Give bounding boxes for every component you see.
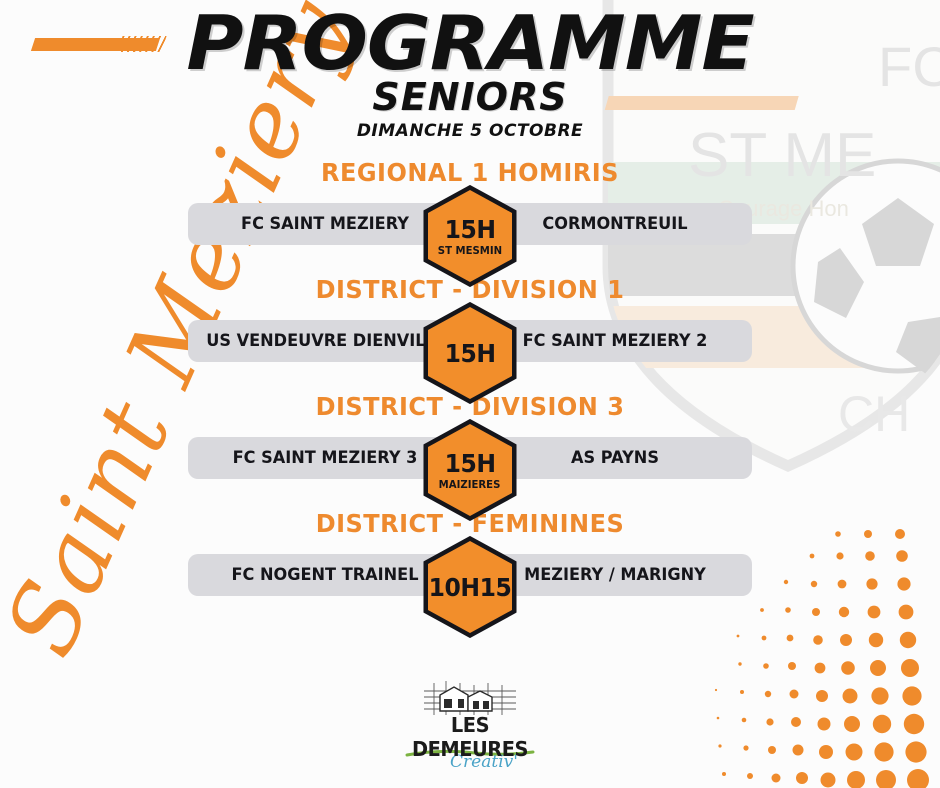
kickoff-time: 15H (445, 451, 496, 476)
fixture-row: FC NOGENT TRAINEL 10H15 MEZIERY / MARIGN… (188, 546, 752, 604)
away-team: AS PAYNS (496, 437, 734, 479)
match-block: DISTRICT - FEMININES FC NOGENT TRAINEL 1… (0, 509, 940, 604)
home-team: US VENDEUVRE DIENVILLE (206, 320, 444, 362)
page-title: PROGRAMME (0, 8, 940, 79)
fixture-row: FC SAINT MEZIERY 3 15H MAIZIERES AS PAYN… (188, 429, 752, 487)
home-team: FC SAINT MEZIERY 3 (206, 437, 444, 479)
kickoff-time: 15H (445, 217, 496, 242)
programme-poster: FC ST ME Courage Hon CH (0, 0, 940, 788)
sponsor-name: LES DEMEURES (394, 713, 545, 761)
away-team: MEZIERY / MARIGNY (496, 554, 734, 596)
league-title: REGIONAL 1 HOMIRIS (19, 158, 921, 187)
kickoff-venue: ST MESMIN (438, 245, 502, 256)
poster-header: PROGRAMME SENIORS DIMANCHE 5 OCTOBRE (0, 8, 940, 141)
home-team: FC NOGENT TRAINEL (206, 554, 444, 596)
match-block: REGIONAL 1 HOMIRIS FC SAINT MEZIERY 15H … (0, 158, 940, 253)
fixture-row: FC SAINT MEZIERY 15H ST MESMIN CORMONTRE… (188, 195, 752, 253)
match-block: DISTRICT - DIVISION 3 FC SAINT MEZIERY 3… (0, 392, 940, 487)
house-icon (420, 677, 520, 717)
home-team: FC SAINT MEZIERY (206, 203, 444, 245)
kickoff-venue: MAIZIERES (439, 479, 501, 490)
match-list: REGIONAL 1 HOMIRIS FC SAINT MEZIERY 15H … (0, 158, 940, 626)
away-team: FC SAINT MEZIERY 2 (496, 320, 734, 362)
fixture-row: US VENDEUVRE DIENVILLE 15H FC SAINT MEZI… (188, 312, 752, 370)
sponsor-logo: LES DEMEURES Créativ' (392, 677, 548, 772)
page-date: DIMANCHE 5 OCTOBRE (0, 121, 940, 141)
kickoff-time: 10H15 (429, 575, 512, 600)
match-block: DISTRICT - DIVISION 1 US VENDEUVRE DIENV… (0, 275, 940, 370)
kickoff-time: 15H (445, 341, 496, 366)
away-team: CORMONTREUIL (496, 203, 734, 245)
